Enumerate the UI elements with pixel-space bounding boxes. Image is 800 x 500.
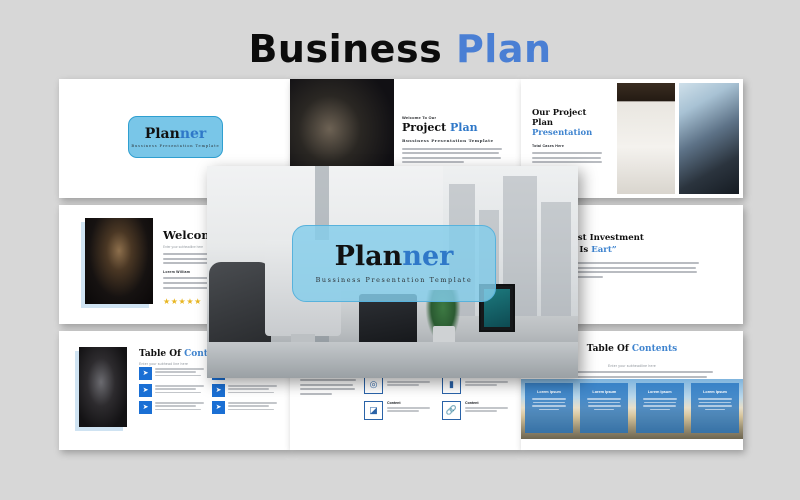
planner-subtitle: Bussiness Presentation Template: [131, 144, 219, 148]
rocket-icon: ➤: [139, 367, 152, 380]
item-text-lines: [228, 384, 279, 395]
road-card[interactable]: Lorem Ipsum: [691, 383, 739, 433]
card-title: Lorem Ipsum: [696, 390, 734, 394]
planner-wordmark: Planner: [335, 243, 454, 270]
planner-badge: Planner Bussiness Presentation Template: [128, 116, 223, 158]
page-title: Business Plan: [0, 30, 800, 68]
link-icon: 🔗: [442, 401, 461, 420]
man-portrait-photo: [85, 218, 153, 304]
heading-blue: Plan: [450, 121, 478, 134]
heading-dark: Table Of: [139, 349, 184, 359]
body-text-lines: [300, 379, 356, 397]
heading-dark: Our Project Plan: [532, 107, 604, 127]
page-title-dark: Business: [248, 27, 442, 71]
heading-dark: Table Of: [587, 344, 632, 354]
item-text-lines: [155, 401, 206, 412]
slide-heading: Project Plan: [402, 122, 510, 135]
list-item[interactable]: ➤: [212, 401, 279, 414]
card-title: Lorem Ipsum: [641, 390, 679, 394]
road-card-row: Lorem Ipsum Lorem Ipsum Lorem Ipsum Lore…: [521, 383, 743, 435]
slide-subheading: Bussiness Presentation Template: [402, 138, 510, 143]
section-label: Total Cases Here: [532, 144, 604, 148]
list-item[interactable]: ➤: [139, 367, 206, 380]
card-title: Content: [387, 401, 434, 405]
planner-word-blue: ner: [180, 126, 206, 142]
quote-blue: Eart”: [591, 245, 617, 255]
hand-phone-photo: [79, 347, 127, 427]
body-text-lines: [402, 148, 502, 164]
newspaper-bus-photo: [617, 83, 675, 194]
content-card[interactable]: 🔗 Content: [442, 401, 512, 420]
road-card[interactable]: Lorem Ipsum: [636, 383, 684, 433]
skyscraper-photo: [679, 83, 739, 194]
road-card[interactable]: Lorem Ipsum: [580, 383, 628, 433]
planner-word-dark: Plan: [145, 126, 180, 142]
area-chart-icon: ◪: [364, 401, 383, 420]
item-text-lines: [155, 384, 206, 395]
office-chair: [209, 262, 271, 354]
list-item[interactable]: ➤: [212, 384, 279, 397]
card-title: Content: [465, 401, 512, 405]
rocket-icon: ➤: [139, 384, 152, 397]
road-card[interactable]: Lorem Ipsum: [525, 383, 573, 433]
planner-word-dark: Plan: [335, 241, 403, 272]
planner-subtitle: Bussiness Presentation Template: [316, 276, 473, 284]
item-text-lines: [228, 401, 279, 412]
rocket-icon: ➤: [139, 401, 152, 414]
item-text-lines: [155, 367, 206, 378]
content-card-grid: ◎ Content ▮ Content ◪ Content 🔗 Content: [364, 375, 512, 420]
desk-surface: [207, 342, 578, 378]
card-title: Lorem Ipsum: [585, 390, 623, 394]
list-item[interactable]: ➤: [139, 384, 206, 397]
featured-slide-planner[interactable]: Planner Bussiness Presentation Template: [207, 166, 578, 378]
star-rating: ★★★★★: [163, 297, 202, 306]
planner-wordmark: Planner: [145, 127, 207, 141]
page-title-blue: Plan: [456, 27, 552, 71]
planner-badge: Planner Bussiness Presentation Template: [292, 225, 496, 302]
rocket-icon: ➤: [212, 384, 225, 397]
planner-word-blue: ner: [402, 241, 453, 272]
card-title: Lorem Ipsum: [530, 390, 568, 394]
list-item[interactable]: ➤: [139, 401, 206, 414]
rocket-icon: ➤: [212, 401, 225, 414]
content-card[interactable]: ◪ Content: [364, 401, 434, 420]
eyebrow-text: Welcome To Our: [402, 115, 510, 120]
heading-dark: Project: [402, 121, 450, 134]
heading-blue: Contents: [632, 344, 677, 354]
preview-canvas: Business Plan Planner Bussiness Presenta…: [0, 0, 800, 500]
heading-blue: Presentation: [532, 127, 604, 137]
